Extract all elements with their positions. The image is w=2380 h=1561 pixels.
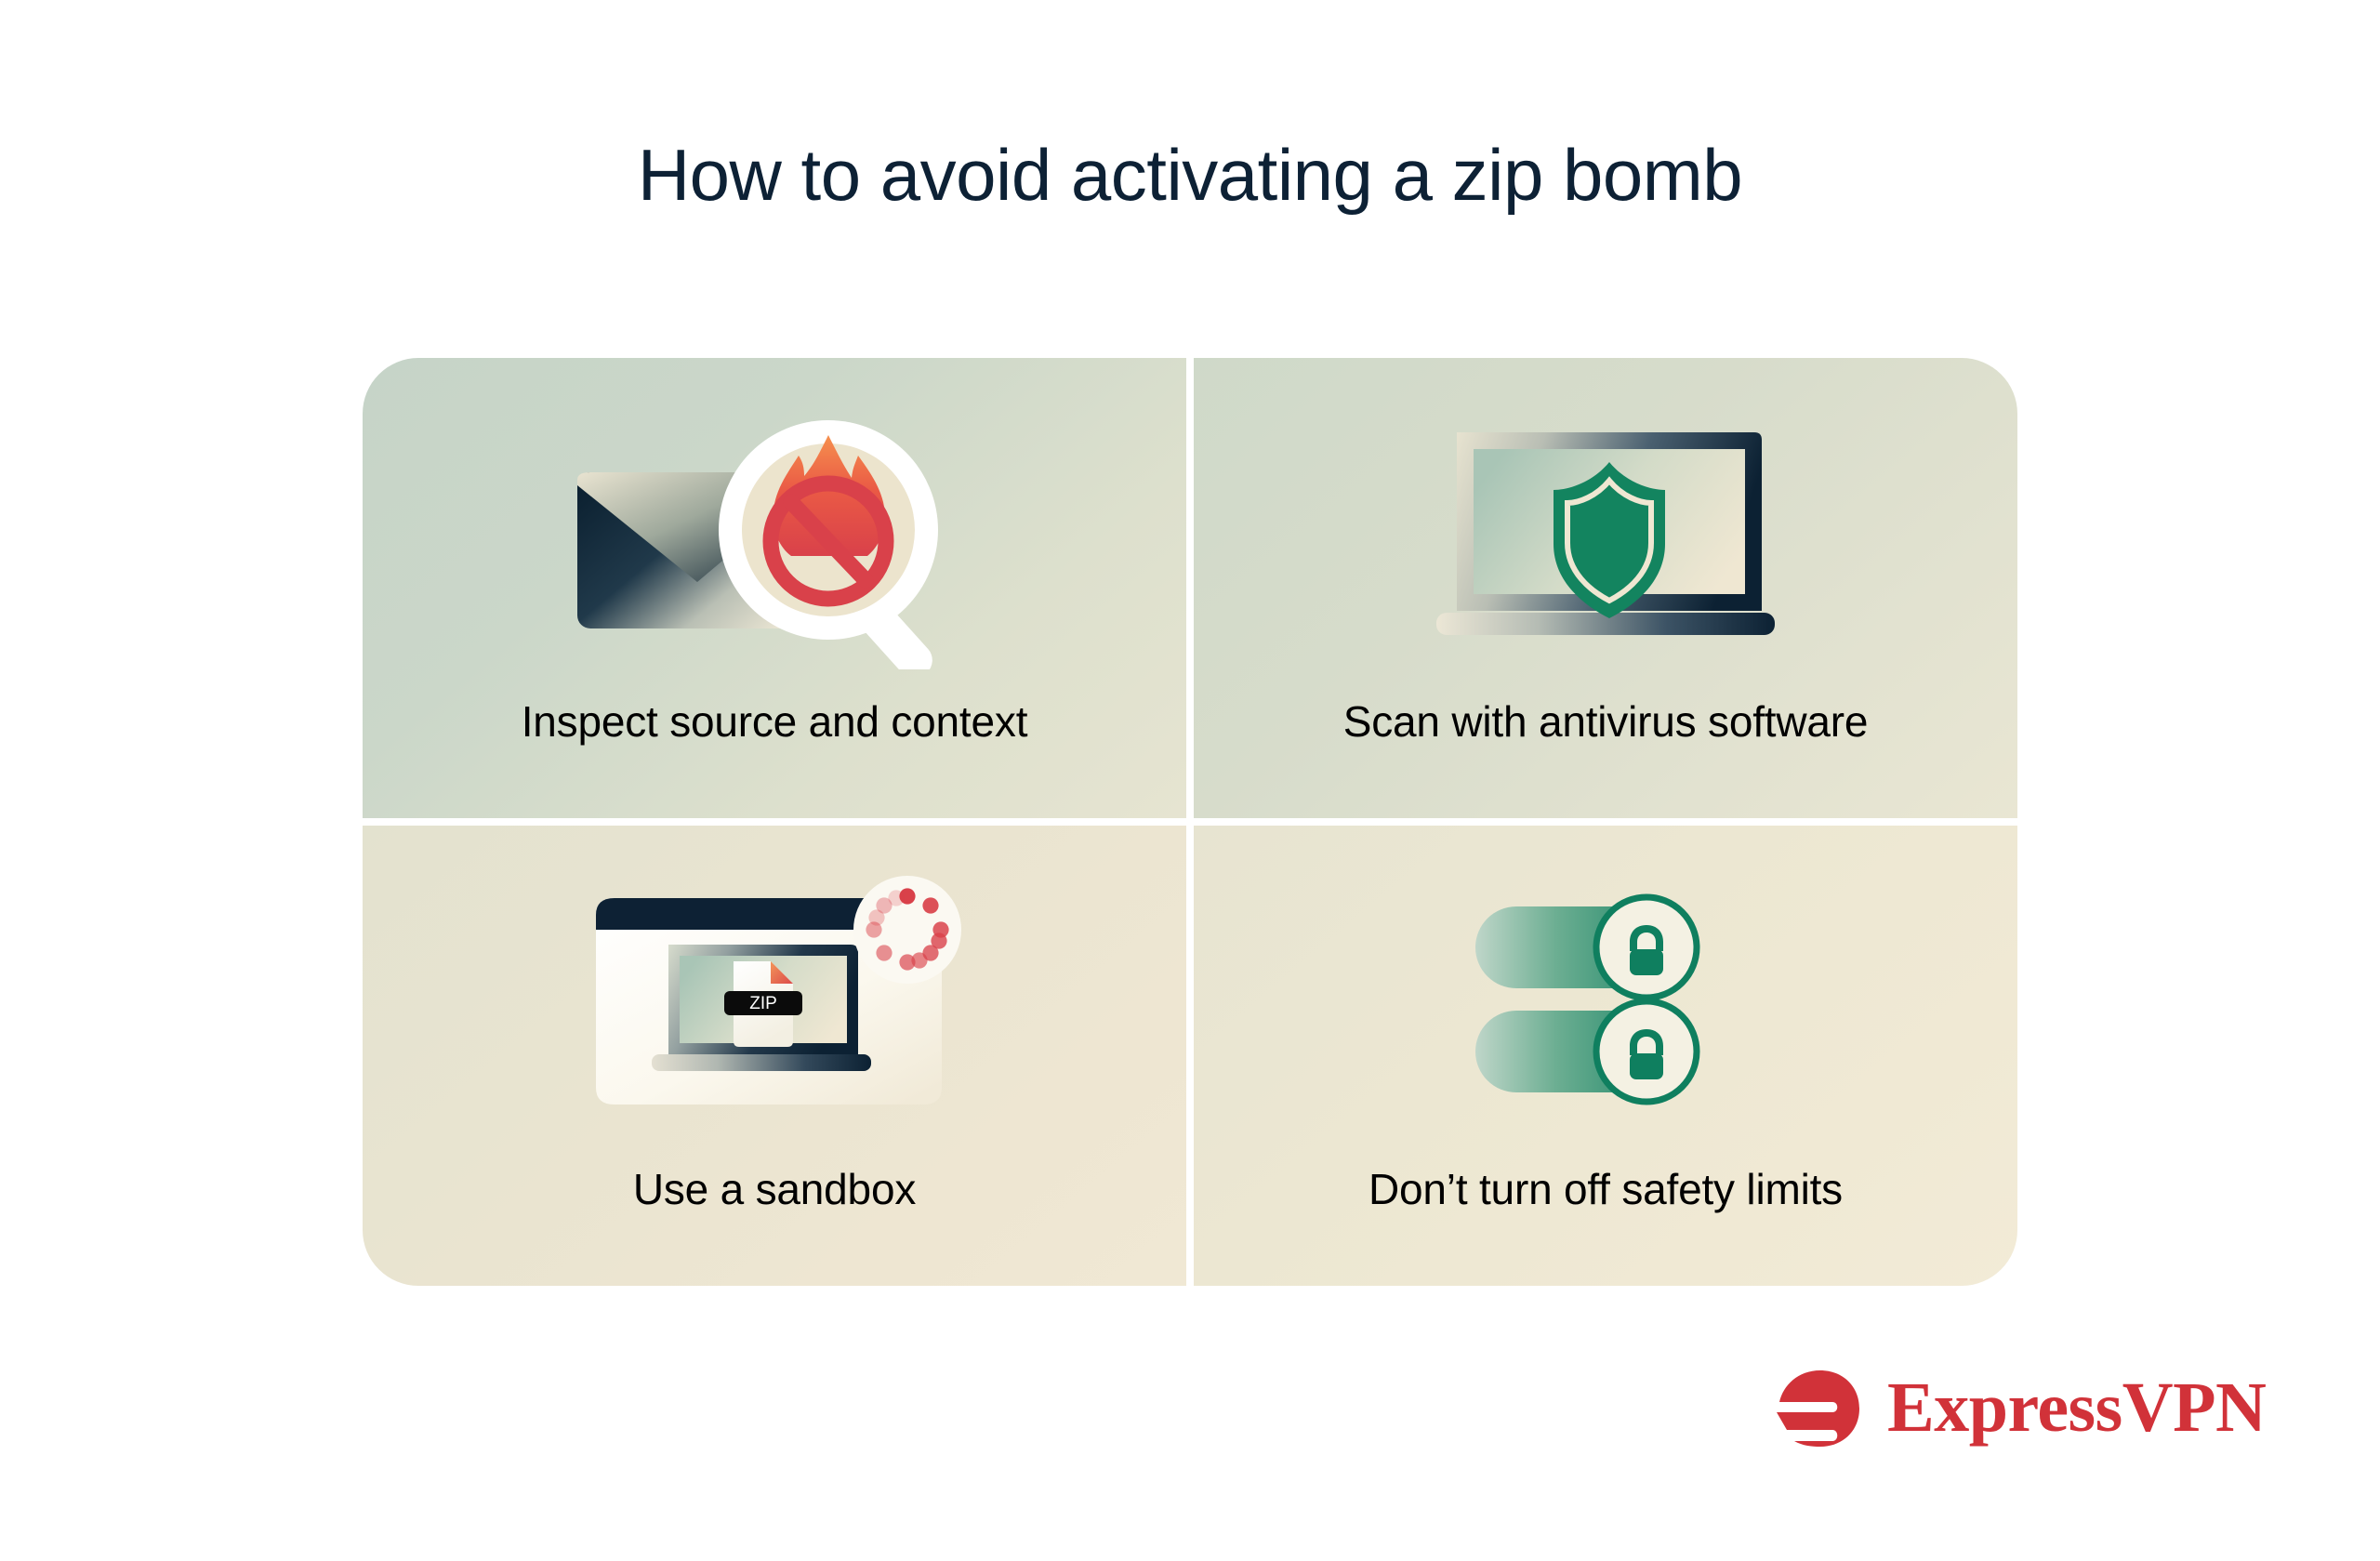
brand-wordmark: ExpressVPN <box>1887 1372 2266 1443</box>
sandbox-window-icon: ZIP <box>579 872 970 1132</box>
laptop-with-shield-icon <box>1420 404 1792 665</box>
card-use-sandbox: ZIP <box>363 826 1186 1286</box>
tips-card-grid: Inspect source and context <box>363 358 2017 1286</box>
expressvpn-e-mark-icon <box>1774 1367 1863 1449</box>
envelope-with-magnifier-icon <box>561 400 988 669</box>
page-title: How to avoid activating a zip bomb <box>0 130 2380 219</box>
zip-badge-text: ZIP <box>749 994 777 1013</box>
toggle-switches-icon <box>1466 886 1745 1118</box>
toggle-switch-icon <box>1475 1001 1697 1102</box>
card-inspect-source-label: Inspect source and context <box>363 695 1186 748</box>
toggle-switch-icon <box>1475 897 1697 998</box>
card-use-sandbox-art: ZIP <box>363 863 1186 1142</box>
card-inspect-source-art <box>363 395 1186 674</box>
card-scan-antivirus-label: Scan with antivirus software <box>1194 695 2017 748</box>
card-safety-limits-art <box>1194 863 2017 1142</box>
card-inspect-source: Inspect source and context <box>363 358 1186 818</box>
card-scan-antivirus: Scan with antivirus software <box>1194 358 2017 818</box>
brand-logo: ExpressVPN <box>1774 1367 2266 1449</box>
card-use-sandbox-label: Use a sandbox <box>363 1162 1186 1216</box>
loading-spinner-icon <box>853 876 961 984</box>
card-safety-limits-label: Don’t turn off safety limits <box>1194 1162 2017 1216</box>
card-scan-antivirus-art <box>1194 395 2017 674</box>
card-safety-limits: Don’t turn off safety limits <box>1194 826 2017 1286</box>
